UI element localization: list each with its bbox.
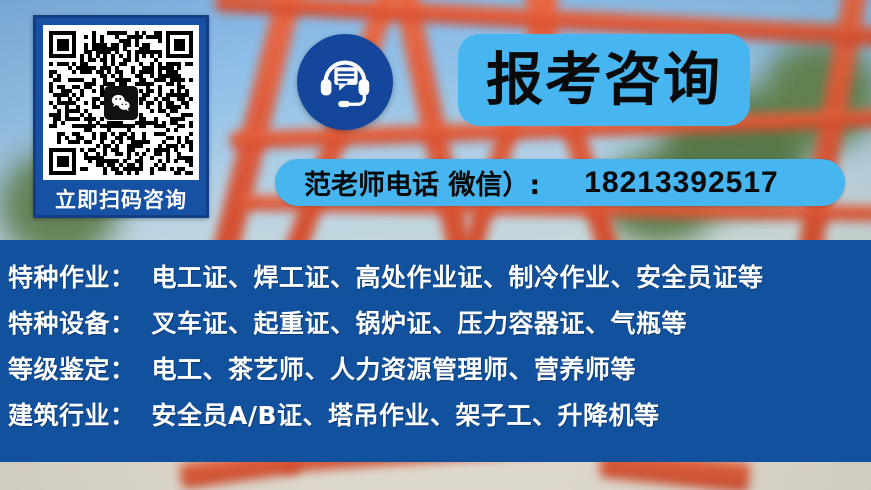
wechat-icon	[104, 86, 138, 120]
info-row: 特种设备： 叉车证、起重证、锅炉证、压力容器证、气瓶等	[0, 304, 871, 350]
info-row: 建筑行业： 安全员A/B证、塔吊作业、架子工、升降机等	[0, 396, 871, 442]
info-row-category: 特种作业：	[8, 258, 136, 294]
headset-support-badge	[297, 34, 393, 130]
phone-label: 范老师电话 微信）:	[304, 163, 540, 202]
title-pill-label: 报考咨询	[486, 52, 722, 109]
info-row-category: 特种设备：	[8, 304, 136, 340]
qr-caption: 立即扫码咨询	[43, 180, 199, 220]
info-row-category: 建筑行业：	[8, 396, 136, 432]
phone-pill[interactable]: 范老师电话 微信）: 18213392517	[275, 159, 845, 206]
info-row-items: 电工、茶艺师、人力资源管理师、营养师等	[152, 350, 637, 386]
info-row: 特种作业： 电工证、焊工证、高处作业证、制冷作业、安全员证等	[0, 258, 871, 304]
title-pill: 报考咨询	[458, 34, 750, 126]
info-row: 等级鉴定： 电工、茶艺师、人力资源管理师、营养师等	[0, 350, 871, 396]
info-row-category: 等级鉴定：	[8, 350, 136, 386]
certificate-category-panel: 特种作业： 电工证、焊工证、高处作业证、制冷作业、安全员证等 特种设备： 叉车证…	[0, 240, 871, 462]
info-row-items: 电工证、焊工证、高处作业证、制冷作业、安全员证等	[152, 258, 764, 294]
phone-number[interactable]: 18213392517	[584, 166, 779, 200]
qr-code-image-area	[43, 25, 199, 180]
promo-poster: 立即扫码咨询 报考咨询 范老师电话 微信）: 18213392517	[0, 0, 871, 490]
headset-support-icon	[314, 49, 376, 116]
qr-code-card[interactable]: 立即扫码咨询	[33, 15, 209, 218]
info-row-items: 叉车证、起重证、锅炉证、压力容器证、气瓶等	[152, 304, 688, 340]
qr-code-image	[49, 31, 193, 175]
info-row-items: 安全员A/B证、塔吊作业、架子工、升降机等	[152, 396, 660, 432]
